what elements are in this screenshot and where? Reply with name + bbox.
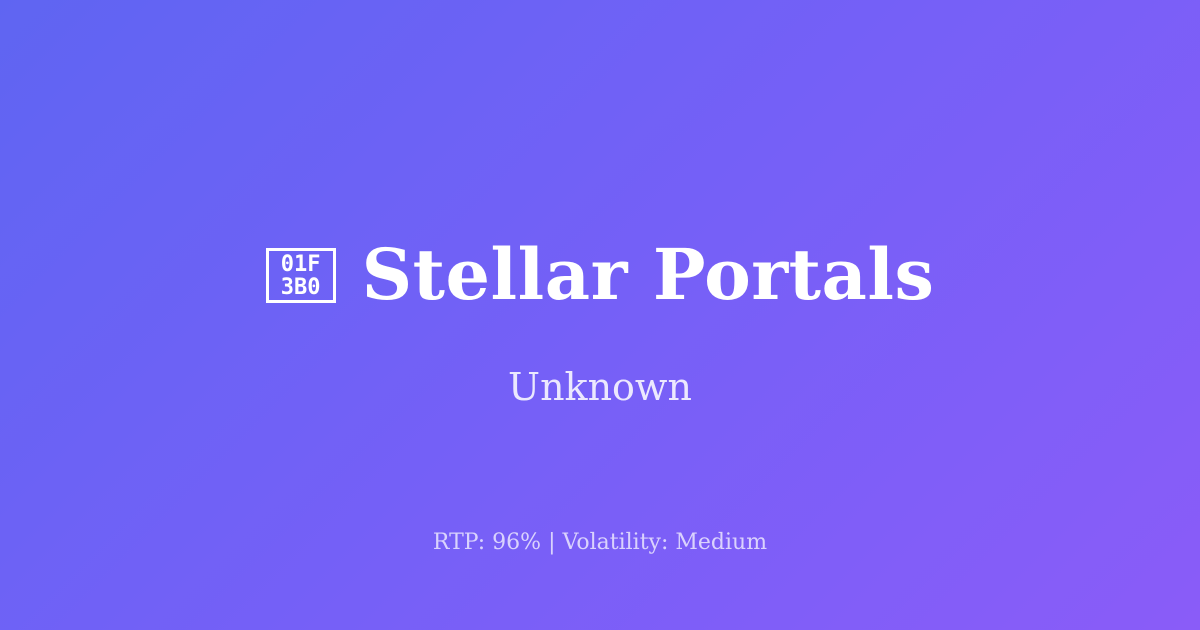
provider-subtitle: Unknown: [0, 363, 1200, 411]
tofu-codepoint-bottom: 3B0: [281, 276, 321, 299]
tofu-codepoint-top: 01F: [281, 253, 321, 276]
card-header: 01F 3B0 Stellar Portals: [0, 232, 1200, 318]
game-stats-line: RTP: 96% | Volatility: Medium: [0, 528, 1200, 558]
page-title: Stellar Portals: [362, 232, 935, 318]
game-share-card: 01F 3B0 Stellar Portals Unknown RTP: 96%…: [0, 0, 1200, 630]
slot-machine-icon: 01F 3B0: [266, 248, 336, 303]
